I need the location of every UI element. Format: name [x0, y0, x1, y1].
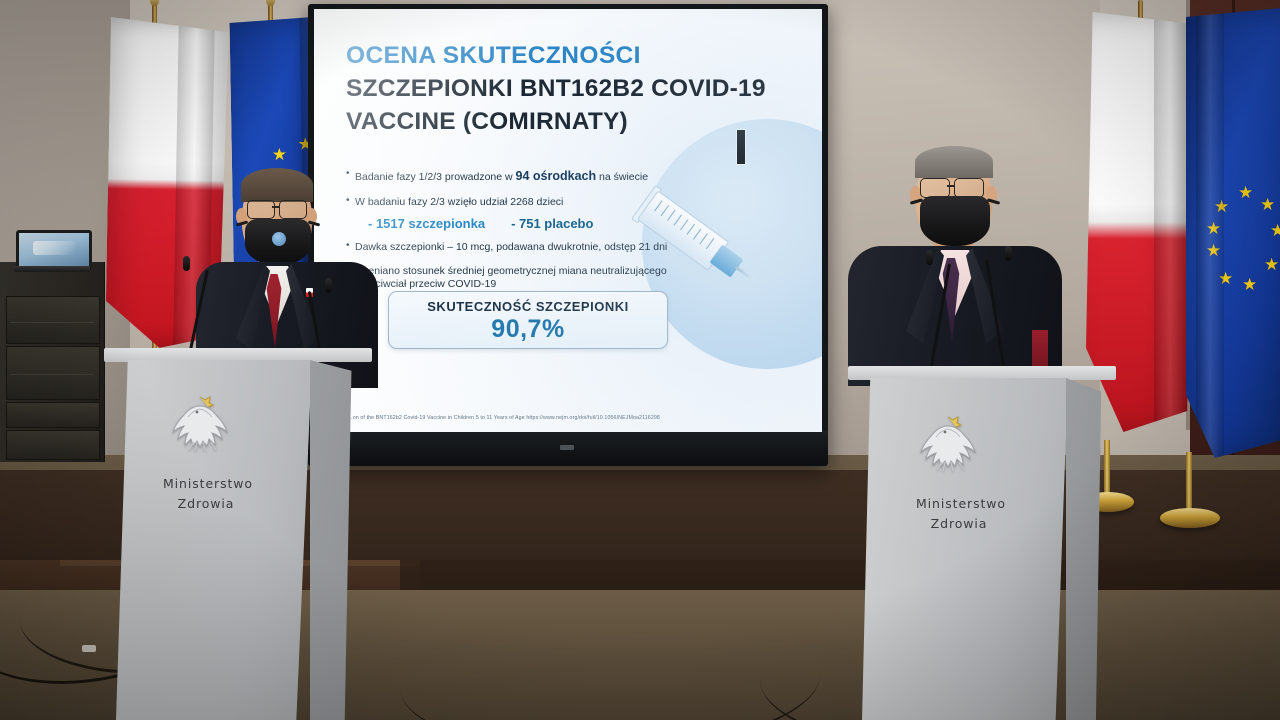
glasses-bridge [272, 206, 280, 208]
face-mask [920, 196, 990, 246]
rack-unit [6, 402, 100, 428]
press-conference-scene: ★ ★ ★ ★ ★ ★ ★ ★ ★ ★ ★ ★ ★ ★ ★ ★ ★ ★ [0, 0, 1280, 720]
glasses-right-lens [954, 178, 984, 198]
cable-connector [82, 645, 96, 652]
group-vaccine-label: - 1517 szczepionka [368, 216, 485, 231]
microphone-head [183, 256, 190, 271]
list-item: W badaniu fazy 2/3 wzięło udział 2268 dz… [346, 196, 716, 209]
microphone-head [926, 250, 933, 265]
group-breakdown-row: - 1517 szczepionka- 751 placebo [346, 216, 716, 231]
bullet-text-post: na świecie [596, 171, 648, 183]
slide-bullet-list: Badanie fazy 1/2/3 prowadzone w 94 ośrod… [346, 169, 716, 302]
screen-glare [33, 241, 75, 255]
rack-unit [6, 296, 100, 344]
podium-label-line2: Zdrowia [108, 496, 304, 512]
slide-title-line1: OCENA SKUTECZNOŚCI [346, 42, 641, 70]
podium-top-surface [104, 348, 372, 362]
bullet-text-pre: Oceniano stosunek średniej geometrycznej… [355, 265, 667, 290]
podium-side-panel [1066, 378, 1110, 720]
mask-emblem-icon [272, 232, 286, 246]
right-podium: Ministerstwo Zdrowia [848, 366, 1116, 720]
podium-side-panel [310, 360, 366, 720]
glasses-left-lens [920, 178, 950, 198]
left-podium: Ministerstwo Zdrowia [104, 348, 372, 720]
bullet-highlight: 94 ośrodkach [516, 169, 597, 183]
efficacy-box: SKUTECZNOŚĆ SZCZEPIONKI 90,7% [388, 291, 668, 349]
bullet-text-pre: Badanie fazy 1/2/3 prowadzone w [355, 171, 516, 183]
podium-label-line1: Ministerstwo [858, 496, 1064, 512]
list-item: Badanie fazy 1/2/3 prowadzone w 94 ośrod… [346, 169, 716, 185]
slide-content: OCENA SKUTECZNOŚCI SZCZEPIONKI BNT162B2 … [314, 9, 822, 432]
glasses-right-lens [279, 200, 307, 219]
eu-flag-right: ★ ★ ★ ★ ★ ★ ★ ★ ★ [1186, 8, 1280, 458]
laptop[interactable] [14, 230, 90, 272]
rack-unit [6, 430, 100, 460]
av-equipment-rack [0, 262, 105, 462]
screen-brand-logo [560, 445, 574, 450]
flag-stand-base [1160, 508, 1220, 528]
list-item: Oceniano stosunek średniej geometrycznej… [346, 265, 707, 291]
bullet-text-pre: Dawka szczepionki – 10 mcg, podawana dwu… [355, 241, 667, 253]
rack-unit [6, 346, 100, 400]
hair [241, 168, 313, 202]
slide-title-line2: SZCZEPIONKI BNT162B2 COVID-19 [346, 75, 766, 103]
pointer-artifact [736, 129, 746, 165]
podium-label-line1: Ministerstwo [110, 476, 306, 492]
glasses-bridge [947, 185, 955, 187]
bullet-text-pre: W badaniu fazy 2/3 wzięło udział 2268 dz… [355, 196, 563, 208]
flag-stand-rod [1186, 452, 1192, 514]
podium-label-line2: Zdrowia [856, 516, 1062, 532]
hair [915, 146, 993, 178]
group-placebo-label: - 751 placebo [511, 216, 593, 231]
microphone-head [1005, 246, 1012, 261]
efficacy-value: 90,7% [389, 315, 667, 344]
laptop-base [14, 266, 90, 272]
slide-footnote-citation: ...on of the BNT162b2 Covid-19 Vaccine i… [348, 415, 822, 421]
slide-title-line3: VACCINE (COMIRNATY) [346, 108, 628, 136]
efficacy-title: SKUTECZNOŚĆ SZCZEPIONKI [389, 299, 667, 314]
polish-eagle-emblem [168, 390, 232, 456]
polish-eagle-emblem [916, 410, 980, 476]
list-item: Dawka szczepionki – 10 mcg, podawana dwu… [346, 241, 716, 254]
laptop-screen [16, 230, 92, 270]
glasses-left-lens [247, 200, 275, 219]
podium-top-surface [848, 366, 1116, 380]
microphone-head [325, 278, 332, 293]
